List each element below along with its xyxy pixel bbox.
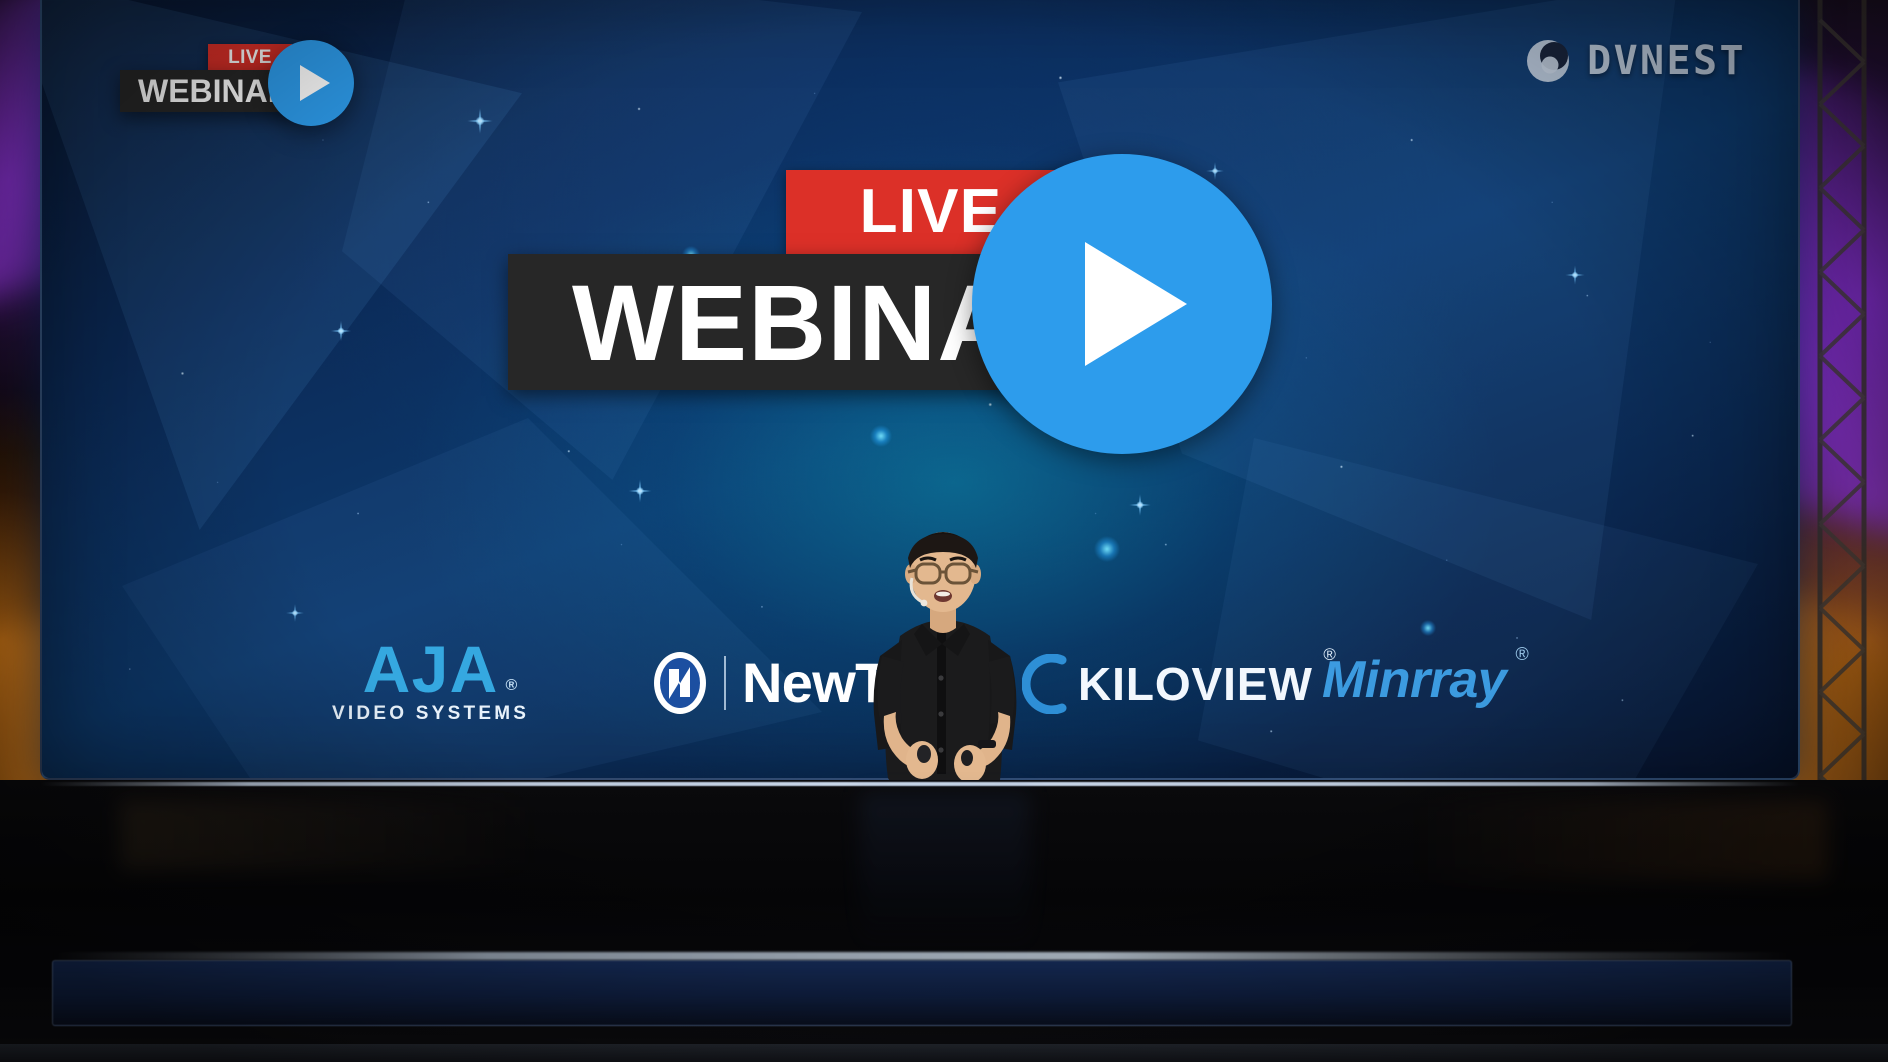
brand-logo: DVNEST <box>1525 38 1746 84</box>
stage-front-lip <box>0 1044 1888 1062</box>
minrray-name: Minrray <box>1322 651 1506 709</box>
sponsor-logo-kiloview: KILOVIEW® <box>1022 654 1313 714</box>
broadcast-stage-scene: LIVE WEBINAR DVNEST LIVE WEBINAR AJA® <box>0 0 1888 1062</box>
badge-play-icon <box>268 40 354 126</box>
stage-truss-structure <box>1814 0 1870 900</box>
newtek-n-icon <box>652 651 708 715</box>
stage-floor-edge-glint <box>40 782 1800 786</box>
hero-play-icon <box>972 154 1272 454</box>
aja-name: AJA <box>363 632 499 706</box>
sparkle-star-icon <box>331 321 352 342</box>
live-webinar-watermark-badge: LIVE WEBINAR <box>120 44 354 122</box>
minrray-trademark: ® <box>1515 644 1528 665</box>
sparkle-star-icon <box>467 108 493 134</box>
brand-name: DVNEST <box>1587 38 1746 84</box>
glow-orb <box>1420 620 1436 636</box>
play-triangle-icon <box>1085 242 1187 366</box>
aja-tagline: VIDEO SYSTEMS <box>332 703 529 725</box>
floor-reflection-smear <box>1408 800 1828 880</box>
sponsor-logo-minrray: Minrray® <box>1322 650 1506 710</box>
glow-orb <box>1094 536 1120 562</box>
aja-trademark: ® <box>505 679 518 693</box>
sponsor-logo-aja: AJA® VIDEO SYSTEMS <box>332 640 529 725</box>
floor-reflection-sheen <box>52 952 1792 960</box>
aja-wordmark: AJA® <box>363 640 499 699</box>
kiloview-name: KILOVIEW <box>1078 658 1313 710</box>
sparkle-star-icon <box>1129 494 1151 516</box>
live-webinar-hero-graphic: LIVE WEBINAR <box>508 170 1228 470</box>
kiloview-wordmark: KILOVIEW® <box>1078 657 1313 711</box>
presenter-floor-reflection <box>860 792 1030 952</box>
sparkle-star-icon <box>1565 265 1585 285</box>
sparkle-star-icon <box>286 604 304 622</box>
floor-reflection-panel <box>52 960 1792 1026</box>
play-triangle-icon <box>300 65 330 101</box>
minrray-wordmark: Minrray® <box>1322 650 1506 710</box>
floor-reflection-smear <box>120 800 540 870</box>
sparkle-star-icon <box>628 479 651 502</box>
newtek-divider <box>724 656 726 710</box>
crescent-circle-icon <box>1525 38 1571 84</box>
